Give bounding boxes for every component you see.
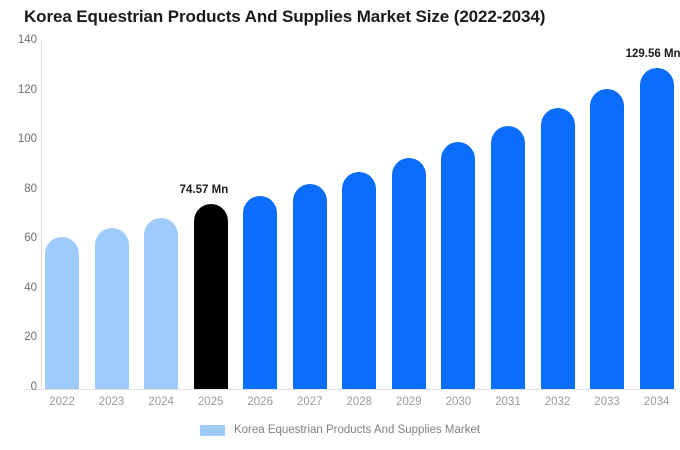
y-axis-tick-label: 0 (0, 381, 37, 393)
y-axis-tick-label: 140 (0, 34, 37, 46)
y-axis-tick-label: 20 (0, 331, 37, 343)
chart-legend: Korea Equestrian Products And Supplies M… (0, 424, 680, 436)
x-axis-tick-label-2023: 2023 (87, 396, 137, 408)
bar-2034[interactable] (640, 68, 674, 389)
plot-area: 020406080100120140 202220232024202520262… (0, 0, 680, 450)
bar-2029[interactable] (392, 158, 426, 389)
x-axis-tick-label-2027: 2027 (285, 396, 335, 408)
x-axis-tick-label-2025: 2025 (186, 396, 236, 408)
x-axis-tick-label-2034: 2034 (632, 396, 680, 408)
bar-2030[interactable] (441, 142, 475, 389)
x-axis-tick-label-2024: 2024 (136, 396, 186, 408)
legend-swatch-korea-equestrian-market (200, 425, 225, 436)
x-axis-tick-label-2026: 2026 (235, 396, 285, 408)
bar-2023[interactable] (95, 228, 129, 389)
legend-label-korea-equestrian-market: Korea Equestrian Products And Supplies M… (234, 424, 480, 436)
bar-2025[interactable] (194, 204, 228, 389)
bar-2028[interactable] (342, 172, 376, 389)
y-axis-tick-label: 120 (0, 84, 37, 96)
y-axis-tick-label: 40 (0, 282, 37, 294)
x-axis-tick-label-2029: 2029 (384, 396, 434, 408)
value-label-2034: 129.56 Mn (626, 48, 680, 60)
x-axis-tick-label-2022: 2022 (37, 396, 87, 408)
y-axis-tick-label: 60 (0, 232, 37, 244)
bar-2027[interactable] (293, 184, 327, 389)
y-axis-tick-label: 100 (0, 133, 37, 145)
bar-2022[interactable] (45, 237, 79, 389)
y-axis-line (41, 42, 42, 390)
x-axis-tick-label-2032: 2032 (533, 396, 583, 408)
x-axis-tick-label-2030: 2030 (433, 396, 483, 408)
chart-container: Korea Equestrian Products And Supplies M… (0, 0, 680, 450)
y-axis-tick-label: 80 (0, 183, 37, 195)
bar-2024[interactable] (144, 218, 178, 389)
value-label-2025: 74.57 Mn (180, 184, 229, 196)
bar-2031[interactable] (491, 126, 525, 389)
bar-2032[interactable] (541, 108, 575, 389)
x-axis-tick-label-2033: 2033 (582, 396, 632, 408)
x-axis-line (24, 389, 676, 390)
bar-2033[interactable] (590, 89, 624, 389)
x-axis-tick-label-2031: 2031 (483, 396, 533, 408)
x-axis-tick-label-2028: 2028 (334, 396, 384, 408)
bar-2026[interactable] (243, 196, 277, 389)
